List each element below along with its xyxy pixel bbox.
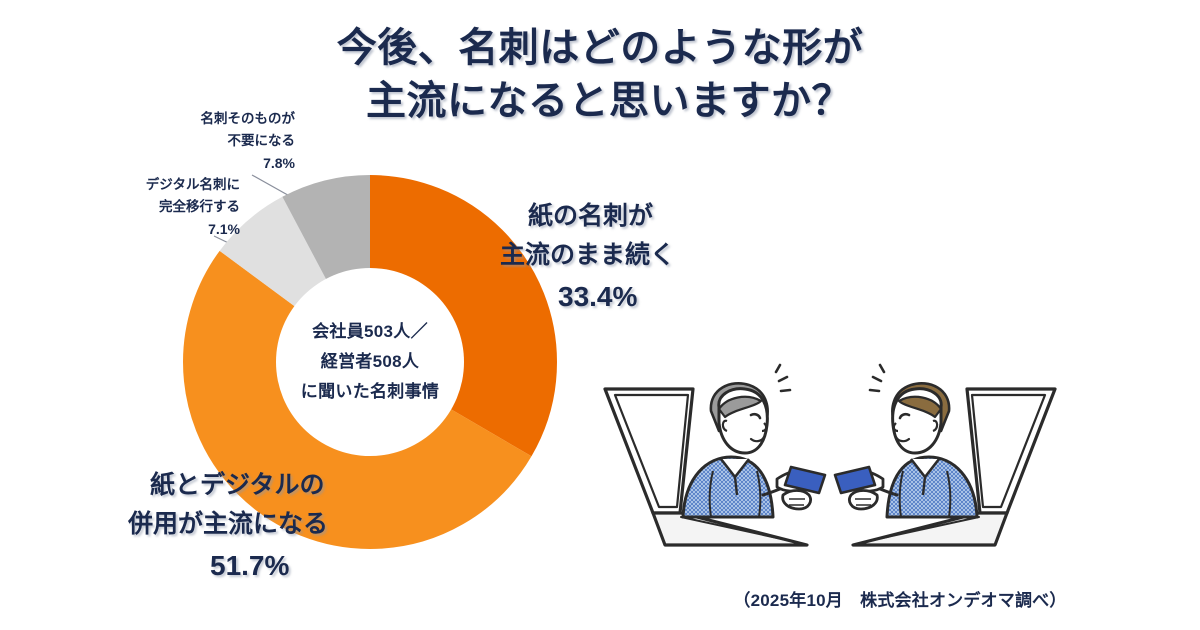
callout-paper-line-2: 主流のまま続く [500, 236, 675, 275]
callout-none-line-1: 名刺そのものが [150, 108, 295, 130]
callout-none-line-2: 不要になる [150, 130, 295, 152]
donut-hole [276, 268, 464, 456]
callout-none: 名刺そのものが 不要になる 7.8% [150, 108, 295, 174]
callout-paper: 紙の名刺が 主流のまま続く 33.4% [500, 197, 675, 318]
title-line-1: 今後、名刺はどのような形が [0, 22, 1200, 75]
callout-paper-percent: 33.4% [500, 275, 675, 318]
sparkle-right [870, 365, 884, 391]
callout-none-percent: 7.8% [150, 152, 295, 175]
illustration-svg [585, 345, 1075, 590]
callout-digital-line-1: デジタル名刺に [110, 174, 240, 196]
person-right [835, 365, 977, 517]
callout-digital-line-2: 完全移行する [110, 196, 240, 218]
callout-hybrid-percent: 51.7% [128, 544, 328, 587]
callout-hybrid-line-1: 紙とデジタルの [128, 466, 328, 505]
illustration-online-card-exchange [585, 345, 1075, 590]
callout-hybrid-line-2: 併用が主流になる [128, 505, 328, 544]
source-credit: （2025年10月 株式会社オンデオマ調べ） [690, 586, 1110, 611]
callout-digital-percent: 7.1% [110, 218, 240, 241]
person-left [683, 365, 825, 517]
callout-paper-line-1: 紙の名刺が [500, 197, 675, 236]
callout-digital: デジタル名刺に 完全移行する 7.1% [110, 174, 240, 240]
sparkle-left [776, 365, 790, 391]
infographic-canvas: 今後、名刺はどのような形が 主流になると思いますか？ 会社員503人／ 経営 [0, 0, 1200, 630]
callout-hybrid: 紙とデジタルの 併用が主流になる 51.7% [128, 466, 328, 587]
